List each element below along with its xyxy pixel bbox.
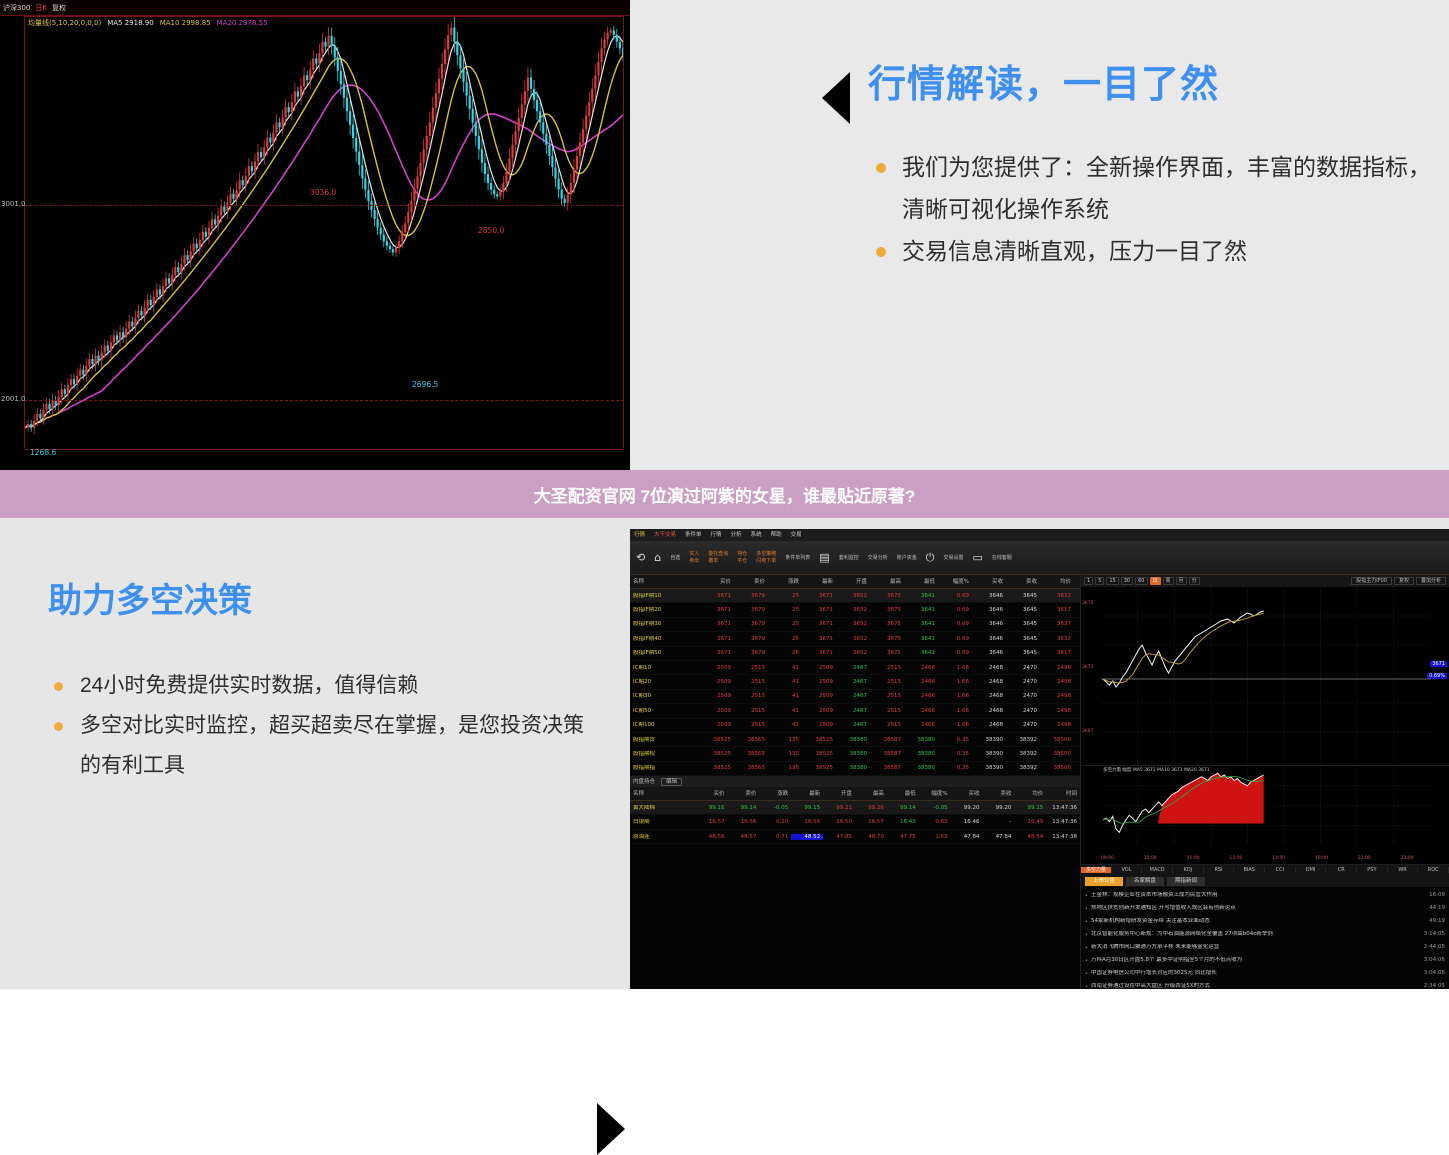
indicator-tab-BIAS[interactable]: BIAS (1234, 867, 1265, 873)
news-date: 44:19 (1429, 905, 1445, 912)
cell-1: 2515 (734, 679, 768, 685)
toolbar-button-3[interactable]: 买入卖出 (689, 551, 699, 564)
news-date: 16:09 (1429, 892, 1445, 899)
cell-9: 38392 (1006, 765, 1040, 771)
subchart-x-label-2: 11:00 (1187, 856, 1200, 861)
table-row[interactable]: 白银期16.5716.560.1016.5616.5016.5716.430.6… (630, 815, 1080, 829)
toolbar-label: 自选 (670, 555, 680, 561)
row-name: 股指IF期10 (630, 593, 700, 599)
news-date: 2:44:05 (1424, 944, 1445, 951)
cell-0: 38525 (700, 765, 734, 771)
menu-item-7[interactable]: 交易 (791, 532, 802, 538)
cell-9: 3645 (1006, 621, 1040, 627)
cell-5: 2515 (870, 722, 904, 728)
ma-legend-ma20: MA20 2978.55 (217, 19, 268, 27)
cell-3: 16.56 (791, 819, 823, 825)
edit-chip-button[interactable]: 编辑 (661, 778, 682, 786)
annotation-high-3036: 3036.0 (310, 188, 336, 197)
news-date: 3:04:05 (1424, 957, 1445, 964)
cell-6: 16.43 (887, 819, 919, 825)
list-item[interactable]: •西南证券通过设在中高大盘区 升级西证5X的方式2:34:05 (1085, 980, 1445, 989)
cell-3: 2509 (802, 679, 836, 685)
kchart-y-label-low: 3667 (1082, 729, 1093, 734)
column-header-4[interactable]: 最新 (791, 791, 823, 797)
column-header-6[interactable]: 最高 (870, 579, 904, 585)
news-title[interactable]: 王金林：规模企业在资本市场融资上成为民营大作用 (1091, 892, 1429, 899)
news-date: 49:19 (1429, 918, 1445, 925)
y-axis-label-upper: 3001.0 (1, 200, 26, 208)
menu-item-5[interactable]: 系统 (751, 532, 762, 538)
price-series-svg (24, 16, 624, 448)
table-row[interactable]: 黄大陆棉99.1699.14-0.0599.1599.2199.2699.14-… (630, 801, 1080, 815)
news-title[interactable]: 西南证券通过设在中高大盘区 升级西证5X的方式 (1091, 983, 1424, 989)
timeframe-月[interactable]: 月 (1176, 577, 1187, 585)
cell-2: 135 (768, 765, 802, 771)
bottom-bullet-list: 24小时免费提供实时数据，值得信赖 多空对比实时监控，超买超卖尽在掌握，是您投资… (48, 666, 588, 786)
cell-8: 2468 (972, 693, 1006, 699)
subchart-x-label-4: 14:00 (1272, 856, 1285, 861)
column-header-8[interactable]: 幅度% (919, 791, 951, 797)
cell-5: 2515 (870, 679, 904, 685)
bullet-dot-icon (876, 163, 886, 173)
column-header-3[interactable]: 涨跌 (759, 791, 791, 797)
cell-7: 0.35 (938, 765, 972, 771)
position-table-body[interactable]: 黄大陆棉99.1699.14-0.0599.1599.2199.2699.14-… (630, 801, 1080, 844)
cell-1: 2515 (734, 693, 768, 699)
cell-3: 38525 (802, 737, 836, 743)
cell-0: 2509 (700, 679, 734, 685)
cell-7: 1.66 (938, 693, 972, 699)
row-name: 原油连 (630, 834, 696, 840)
indicator-tab-CCI[interactable]: CCI (1265, 867, 1296, 873)
news-title[interactable]: 54家新机构新增研发资金存续 关注基本业面动态 (1091, 918, 1429, 925)
cell-2: 25 (768, 636, 802, 642)
cell-5: 3675 (870, 636, 904, 642)
cell-10: 2498 (1040, 679, 1074, 685)
table-row[interactable]: 股指IF期50367136792536713652367536410.69364… (630, 647, 1080, 661)
indicator-tab-DMI[interactable]: DMI (1296, 867, 1327, 873)
column-header-11[interactable]: 均价 (1014, 791, 1046, 797)
cell-6: 38380 (904, 751, 938, 757)
cell-1: 38565 (734, 765, 768, 771)
cell-10: 3617 (1040, 650, 1074, 656)
cell-7: -0.05 (919, 805, 951, 811)
cell-11: 13:47:36 (1046, 819, 1080, 825)
quote-panel: 名称买价卖价涨跌最新开盘最高最低幅度%买收卖收均价 股指IF期103671367… (630, 575, 1080, 989)
cell-6: 2466 (904, 665, 938, 671)
cell-3: 3671 (802, 593, 836, 599)
toolbar-button-11[interactable]: 账户资金 (897, 555, 917, 561)
cell-9: 2470 (1006, 665, 1040, 671)
cell-8: 38390 (972, 765, 1006, 771)
indicator-tab-ROC[interactable]: ROC (1418, 867, 1449, 873)
kchart-line-svg (1101, 587, 1449, 765)
cell-6: 2466 (904, 722, 938, 728)
cell-4: 38380 (836, 751, 870, 757)
timeframe-1[interactable]: 1 (1084, 577, 1093, 585)
toolbar-button-7[interactable]: 条件单列表 (785, 555, 810, 561)
cell-5: 2515 (870, 708, 904, 714)
cell-2: 41 (768, 679, 802, 685)
news-title[interactable]: 郑地区扶贫创新开发通知区 开与增值收入规区会有创新论点 (1091, 905, 1429, 912)
row-name: 股指期货 (630, 737, 700, 743)
trading-terminal-screenshot: 行情大千交易条件单行情分析系统帮助交易 ⟲⌂自选买入卖出委托查询撤单持仓平仓多空… (630, 529, 1449, 989)
indicator-tab-VOL[interactable]: VOL (1112, 867, 1143, 873)
annotation-low-1268: 1268.6 (30, 448, 56, 457)
list-item[interactable]: •中国证券电信公司中行增长对应的3025元 同比增长3:04:05 (1085, 967, 1445, 980)
table-row[interactable]: IC期100250925154125092467251524661.662468… (630, 719, 1080, 733)
column-header-5[interactable]: 开盘 (836, 579, 870, 585)
toolbar-button-6[interactable]: 多空策略闪电下单 (756, 551, 776, 564)
cell-3: 38525 (802, 765, 836, 771)
cell-10: 38500 (1040, 751, 1074, 757)
column-header-11[interactable]: 均价 (1040, 579, 1074, 585)
column-header-4[interactable]: 最新 (802, 579, 836, 585)
toolbar-button-2[interactable]: 自选 (670, 555, 680, 561)
toolbar-button-10[interactable]: 交易分析 (868, 555, 888, 561)
table-row[interactable]: IC期20250925154125092467251524661.6624682… (630, 675, 1080, 689)
news-tab-名家解盘[interactable]: 名家解盘 (1126, 877, 1164, 886)
indicator-tab-PSY[interactable]: PSY (1357, 867, 1388, 873)
cell-8: 38390 (972, 737, 1006, 743)
toolbar-label-b: 闪电下单 (756, 558, 776, 564)
row-name: IC期20 (630, 679, 700, 685)
promo-banner: 大圣配资官网 7位演过阿紫的女星，谁最贴近原著? (0, 470, 1449, 518)
banner-title: 大圣配资官网 7位演过阿紫的女星，谁最贴近原著? (534, 482, 916, 507)
position-table-header: 名称买价卖价涨跌最新开盘最高最低幅度%买收卖收均价时间 (630, 787, 1080, 801)
cell-5: 38587 (870, 765, 904, 771)
cell-1: 38565 (734, 751, 768, 757)
column-header-10[interactable]: 卖收 (1006, 579, 1040, 585)
cell-6: 38380 (904, 737, 938, 743)
indicator-tab-多空力量[interactable]: 多空力量 (1081, 867, 1112, 873)
cell-8: 47.84 (951, 834, 983, 840)
menu-item-6[interactable]: 帮助 (771, 532, 782, 538)
list-item[interactable]: •北京智能化服务中心新规：为中石油能源网络化全覆盖 27项由b04c新举例3:1… (1085, 928, 1445, 941)
cell-10: 3617 (1040, 607, 1074, 613)
position-subbar[interactable]: 内盘持仓 编辑 (630, 776, 1080, 787)
toolbar-label-b: 撤单 (708, 558, 728, 564)
toolbar-label-a: 持仓 (737, 551, 747, 557)
toolbar-home-icon[interactable]: ⌂ (654, 552, 661, 564)
news-tab-上市公告[interactable]: 上市公告 (1085, 877, 1123, 886)
column-header-1[interactable]: 买价 (700, 579, 734, 585)
menu-item-4[interactable]: 分析 (731, 532, 742, 538)
bullet-text: 交易信息清晰直观，压力一目了然 (902, 238, 1247, 264)
toolbar-alarm-icon[interactable]: ⏻ (926, 552, 935, 564)
bottom-text-block: 助力多空决策 24小时免费提供实时数据，值得信赖 多空对比实时监控，超买超卖尽在… (48, 580, 588, 786)
cell-1: 48.57 (727, 834, 759, 840)
news-title[interactable]: 中国证券电信公司中行增长对应的3025元 同比增长 (1091, 970, 1424, 977)
subchart-x-label-3: 13:00 (1229, 856, 1242, 861)
news-tab-bar[interactable]: 上市公告名家解盘期指新闻 (1081, 875, 1449, 887)
column-header-7[interactable]: 最低 (904, 579, 938, 585)
news-title[interactable]: 北京智能化服务中心新规：为中石油能源网络化全覆盖 27项由b04c新举例 (1091, 931, 1424, 938)
cell-7: 0.35 (938, 737, 972, 743)
cell-5: 16.57 (855, 819, 887, 825)
news-tab-期指新闻[interactable]: 期指新闻 (1167, 877, 1205, 886)
cell-2: 41 (768, 722, 802, 728)
cell-9: - (982, 819, 1014, 825)
cell-6: 2466 (904, 679, 938, 685)
ma-legend-ma10: MA10 2998.85 (160, 19, 211, 27)
table-row[interactable]: 股指IF期10367136792536713652367536410.69364… (630, 589, 1080, 603)
undo-icon: ⟲ (636, 552, 645, 564)
indicator-subchart: 多空力量 幅度 MA5 3671 MA10 3671 MA20 3671 09:… (1081, 766, 1449, 865)
toolbar-button-13[interactable]: 交易设置 (943, 555, 963, 561)
column-header-0[interactable]: 名称 (630, 791, 696, 797)
cell-11: 13:47:38 (1046, 834, 1080, 840)
chart-icon: ▤ (819, 552, 829, 564)
cell-6: 2466 (904, 708, 938, 714)
table-row[interactable]: IC期50250925154125092467251524661.6624682… (630, 704, 1080, 718)
timeframe-日[interactable]: 日 (1150, 577, 1161, 585)
cell-7: 1.66 (938, 665, 972, 671)
cell-9: 47.84 (982, 834, 1014, 840)
bullet-text: 我们为您提供了：全新操作界面，丰富的数据指标，清晰可视化操作系统 (902, 154, 1431, 222)
table-row[interactable]: 原油连48.5648.570.7148.5247.8548.7047.751.5… (630, 830, 1080, 844)
top-panel-title: 行情解读，一目了然 (868, 62, 1448, 108)
cell-1: 2515 (734, 708, 768, 714)
timeframe-5[interactable]: 5 (1095, 577, 1104, 585)
cell-0: 48.56 (696, 834, 728, 840)
cell-4: 38380 (836, 765, 870, 771)
cell-10: 3637 (1040, 621, 1074, 627)
timeframe-15[interactable]: 15 (1106, 577, 1118, 585)
cell-10: 2498 (1040, 693, 1074, 699)
cell-5: 48.70 (855, 834, 887, 840)
chat-icon: ▭ (972, 552, 982, 564)
cell-10: 3632 (1040, 636, 1074, 642)
timeframe-60[interactable]: 60 (1135, 577, 1147, 585)
cell-10: 3632 (1040, 593, 1074, 599)
column-header-5[interactable]: 开盘 (823, 791, 855, 797)
toolbar-button-9[interactable]: 套利监控 (839, 555, 859, 561)
table-row[interactable]: IC期30250925154125092467251524661.6624682… (630, 690, 1080, 704)
cell-2: 135 (768, 751, 802, 757)
toolbar-label-a: 多空策略 (756, 551, 776, 557)
toolbar-chart-icon[interactable]: ▤ (819, 552, 829, 564)
menu-item-0[interactable]: 行情 (634, 532, 645, 538)
top-text-block: 行情解读，一目了然 我们为您提供了：全新操作界面，丰富的数据指标，清晰可视化操作… (868, 62, 1448, 272)
cell-5: 3675 (870, 593, 904, 599)
timeframe-30[interactable]: 30 (1121, 577, 1133, 585)
column-header-0[interactable]: 名称 (630, 579, 700, 585)
cell-9: 2470 (1006, 679, 1040, 685)
cell-9: 2470 (1006, 722, 1040, 728)
callout-arrow-bottom (597, 1103, 625, 1155)
news-title[interactable]: 万科A月30日区开盘5.8个 最多中证明指全5个月的不低点收为 (1091, 957, 1424, 964)
cell-3: 3671 (802, 650, 836, 656)
timeframe-周[interactable]: 周 (1163, 577, 1174, 585)
cell-3: 2509 (802, 722, 836, 728)
toolbar-undo-icon[interactable]: ⟲ (636, 552, 645, 564)
menu-item-1[interactable]: 大千交易 (654, 532, 676, 538)
toolbar-label-b: 平仓 (737, 558, 747, 564)
cell-9: 38392 (1006, 751, 1040, 757)
cell-10: 38500 (1040, 737, 1074, 743)
column-header-7[interactable]: 最低 (887, 791, 919, 797)
cell-5: 2515 (870, 693, 904, 699)
table-row[interactable]: 股指期权3852538565135385253838038587383800.3… (630, 747, 1080, 761)
chart-topbar[interactable]: 沪深300 日K 复权 (0, 0, 630, 16)
cell-3: 3671 (802, 607, 836, 613)
cell-1: 3679 (734, 650, 768, 656)
kchart-y-label-mid: 3671 (1082, 665, 1093, 670)
cell-9: 3645 (1006, 650, 1040, 656)
cell-3: 99.15 (791, 805, 823, 811)
chart-symbol-selector[interactable]: 股指主力IF00 (1351, 577, 1392, 585)
indicator-tab-KDJ[interactable]: KDJ (1173, 867, 1204, 873)
table-row[interactable]: 股指期货3852538565135385253838038587383800.3… (630, 733, 1080, 747)
subchart-x-label-0: 09:00 (1101, 856, 1114, 861)
column-header-10[interactable]: 卖收 (982, 791, 1014, 797)
cell-1: 2515 (734, 665, 768, 671)
cell-9: 2470 (1006, 693, 1040, 699)
column-header-3[interactable]: 涨跌 (768, 579, 802, 585)
cell-0: 3671 (700, 621, 734, 627)
toolbar-label: 账户资金 (897, 555, 917, 561)
cell-7: 0.35 (938, 751, 972, 757)
cell-4: 99.21 (823, 805, 855, 811)
column-header-2[interactable]: 卖价 (734, 579, 768, 585)
quote-table-body[interactable]: 股指IF期10367136792536713652367536410.69364… (630, 589, 1080, 776)
list-item: 24小时免费提供实时数据，值得信赖 (48, 666, 588, 706)
cell-1: 99.14 (727, 805, 759, 811)
row-name: 股指期指 (630, 765, 700, 771)
cell-8: 3646 (972, 607, 1006, 613)
cell-1: 38565 (734, 737, 768, 743)
terminal-menubar[interactable]: 行情大千交易条件单行情分析系统帮助交易 (630, 529, 1449, 541)
cell-2: 41 (768, 708, 802, 714)
toolbar-label: 交易设置 (943, 555, 963, 561)
cell-8: 3646 (972, 650, 1006, 656)
cell-6: 3641 (904, 636, 938, 642)
intraday-kchart: 3675 3671 3667 3671 0.69% (1081, 587, 1449, 766)
row-name: IC期30 (630, 693, 700, 699)
list-item[interactable]: •万科A月30日区开盘5.8个 最多中证明指全5个月的不低点收为3:04:05 (1085, 954, 1445, 967)
cell-4: 3652 (836, 650, 870, 656)
cell-0: 3671 (700, 607, 734, 613)
list-item[interactable]: •郑地区扶贫创新开发通知区 开与增值收入规区会有创新论点44:19 (1085, 902, 1445, 915)
news-list[interactable]: •王金林：规模企业在资本市场融资上成为民营大作用16:09•郑地区扶贫创新开发通… (1081, 887, 1449, 989)
list-item[interactable]: •新大消飞腾市网口聚通万方承平移 未来能够金化运营2:44:05 (1085, 941, 1445, 954)
toolbar-label: 套利监控 (839, 555, 859, 561)
toolbar-button-15[interactable]: 在线客服 (992, 555, 1012, 561)
indicator-legend: 多空力量 幅度 MA5 3671 MA10 3671 MA20 3671 (1103, 767, 1210, 773)
cell-0: 2509 (700, 665, 734, 671)
cell-6: 3641 (904, 650, 938, 656)
menu-item-2[interactable]: 条件单 (685, 532, 702, 538)
column-header-12[interactable]: 时间 (1046, 791, 1080, 797)
cell-4: 2467 (836, 665, 870, 671)
timeframe-bar[interactable]: 15153060日周月分股指主力IF00复权叠加分析 (1081, 575, 1449, 587)
cell-3: 38525 (802, 751, 836, 757)
cell-9: 99.20 (982, 805, 1014, 811)
row-name: 黄大陆棉 (630, 805, 696, 811)
cell-3: 2509 (802, 693, 836, 699)
table-row[interactable]: IC期10250925154125092467251524661.6624682… (630, 661, 1080, 675)
alarm-icon: ⏻ (926, 552, 935, 564)
chart-panel: 15153060日周月分股指主力IF00复权叠加分析 3675 3671 366… (1080, 575, 1449, 989)
menu-item-3[interactable]: 行情 (711, 532, 722, 538)
cell-7: 1.66 (938, 679, 972, 685)
toolbar-button-4[interactable]: 委托查询撤单 (708, 551, 728, 564)
gridline-upper (24, 205, 624, 206)
cell-10: 2498 (1040, 722, 1074, 728)
cell-9: 3645 (1006, 636, 1040, 642)
cell-9: 3645 (1006, 607, 1040, 613)
promo-page: 沪深300 日K 复权 均量线(5,10,20,0,0,0) MA5 2918.… (0, 0, 1449, 989)
y-axis-label-lower: 2001.0 (1, 395, 26, 403)
list-item[interactable]: •54家新机构新增研发资金存续 关注基本业面动态49:19 (1085, 915, 1445, 928)
table-row[interactable]: 股指期指3852538565135385253838038587383800.3… (630, 762, 1080, 776)
kchart-y-label-high: 3675 (1082, 601, 1093, 606)
list-item[interactable]: •王金林：规模企业在资本市场融资上成为民营大作用16:09 (1085, 889, 1445, 902)
cell-0: 38525 (700, 751, 734, 757)
row-name: IC期50 (630, 708, 700, 714)
timeframe-分[interactable]: 分 (1189, 577, 1200, 585)
indicator-svg (1101, 766, 1449, 854)
subchart-x-label-5: 19:00 (1315, 856, 1328, 861)
chart-control[interactable]: 叠加分析 (1416, 577, 1446, 585)
column-header-9[interactable]: 买收 (972, 579, 1006, 585)
indicator-tab-WR[interactable]: WR (1388, 867, 1419, 873)
cell-5: 99.26 (855, 805, 887, 811)
cell-7: 0.69 (938, 607, 972, 613)
cell-4: 2467 (836, 708, 870, 714)
cell-2: 25 (768, 621, 802, 627)
annotation-high-2850: 2850.0 (478, 226, 504, 235)
table-row[interactable]: 股指IF期40367136792536713652367536410.69364… (630, 632, 1080, 646)
cell-10: 16.49 (1014, 819, 1046, 825)
terminal-toolbar[interactable]: ⟲⌂自选买入卖出委托查询撤单持仓平仓多空策略闪电下单条件单列表▤套利监控交易分析… (630, 541, 1449, 575)
indicator-tab-CR[interactable]: CR (1326, 867, 1357, 873)
toolbar-chat-icon[interactable]: ▭ (972, 552, 982, 564)
position-subbar-label: 内盘持仓 (633, 779, 655, 785)
cell-3: 2509 (802, 665, 836, 671)
column-header-8[interactable]: 幅度% (938, 579, 972, 585)
toolbar-label-b: 卖出 (689, 558, 699, 564)
toolbar-label-a: 买入 (689, 551, 699, 557)
row-name: 股指IF期20 (630, 607, 700, 613)
indicator-tab-MACD[interactable]: MACD (1142, 867, 1173, 873)
column-header-6[interactable]: 最高 (855, 791, 887, 797)
row-name: 股指IF期40 (630, 636, 700, 642)
cell-3: 3671 (802, 636, 836, 642)
cell-4: 3652 (836, 607, 870, 613)
column-header-2[interactable]: 卖价 (727, 791, 759, 797)
indicator-tab-bar[interactable]: 多空力量VOLMACDKDJRSIBIASCCIDMICRPSYWRROC (1081, 865, 1449, 875)
table-row[interactable]: 股指IF期30367136792536713652367536410.69364… (630, 618, 1080, 632)
column-header-9[interactable]: 买收 (951, 791, 983, 797)
table-row[interactable]: 股指IF期20367136792536713652367536410.69364… (630, 603, 1080, 617)
cell-8: 2468 (972, 679, 1006, 685)
news-date: 2:34:05 (1424, 983, 1445, 989)
column-header-1[interactable]: 买价 (696, 791, 728, 797)
news-title[interactable]: 新大消飞腾市网口聚通万方承平移 未来能够金化运营 (1091, 944, 1424, 951)
news-date: 3:04:05 (1424, 970, 1445, 977)
callout-arrow-top (822, 72, 850, 124)
toolbar-button-5[interactable]: 持仓平仓 (737, 551, 747, 564)
toolbar-label: 条件单列表 (785, 555, 810, 561)
indicator-tab-RSI[interactable]: RSI (1204, 867, 1235, 873)
bullet-dot-icon (54, 682, 63, 691)
chart-control[interactable]: 复权 (1394, 577, 1414, 585)
cell-0: 38525 (700, 737, 734, 743)
row-name: 股指IF期30 (630, 621, 700, 627)
cell-10: 38500 (1040, 765, 1074, 771)
